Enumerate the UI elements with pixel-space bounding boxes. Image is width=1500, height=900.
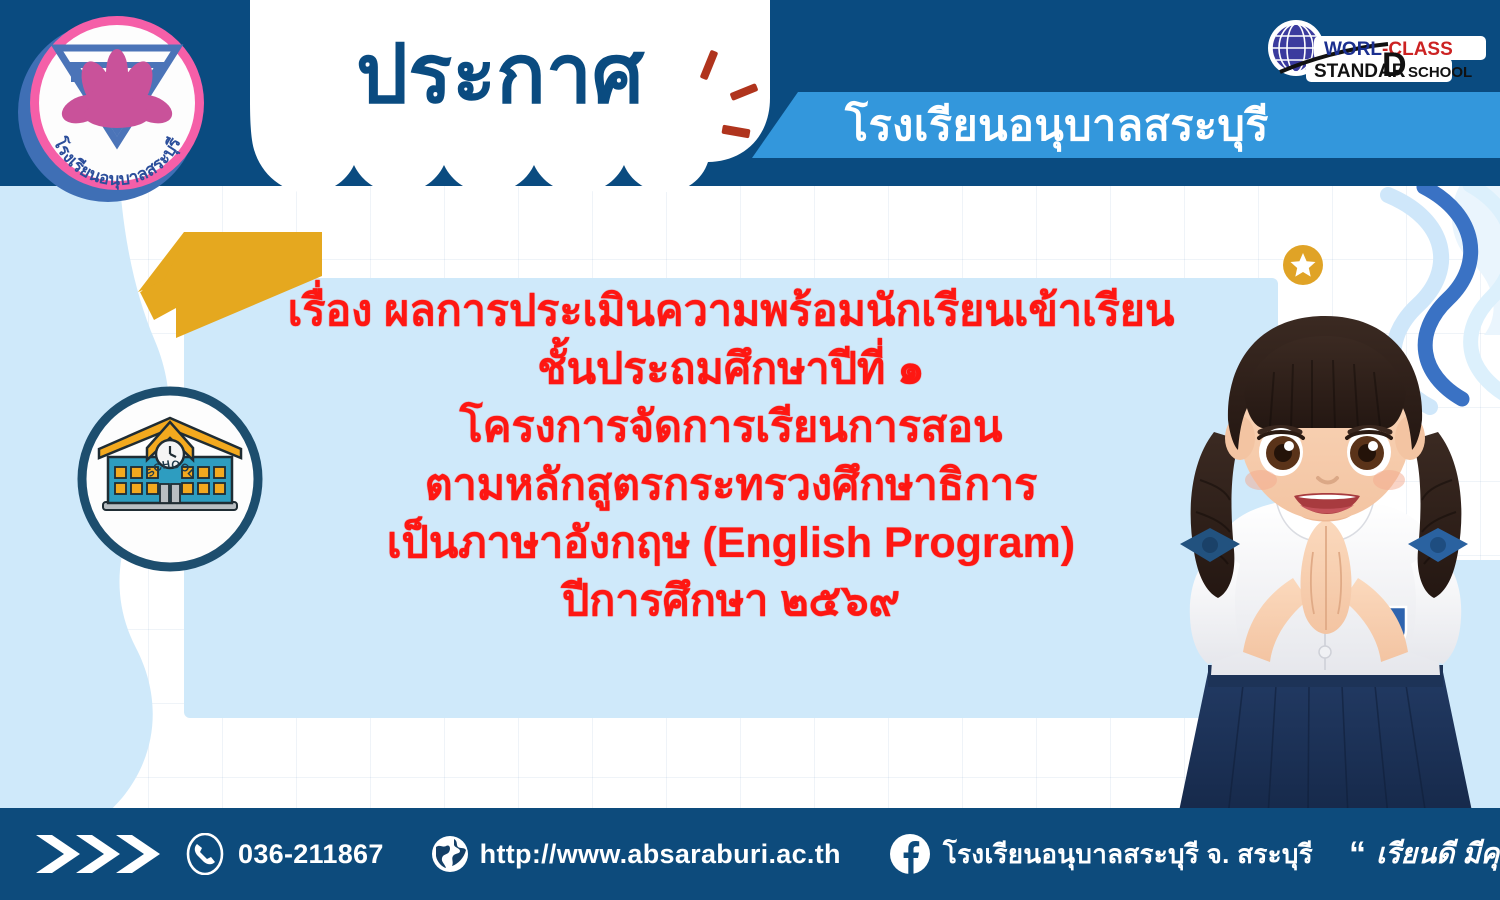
star-badge-icon [1283,245,1323,285]
body-line-5: เป็นภาษาอังกฤษ (English Program) [184,514,1278,572]
body-line-3: โครงการจัดการเรียนการสอน [184,398,1278,456]
schoolgirl-illustration [1148,300,1500,816]
body-line-4: ตามหลักสูตรกระทรวงศึกษาธิการ [184,456,1278,514]
phone-icon [184,833,226,875]
svg-text:D: D [1382,46,1407,84]
footer-website[interactable]: http://www.absaraburi.ac.th [430,834,841,874]
school-logo: โรงเรียนอนุบาลสระบุรี [27,13,207,193]
footer-content: 036-211867 http://www.absaraburi.ac.th โ… [0,808,1500,900]
motto-text: เรียนดี มีคุณธรรม [1376,832,1500,876]
globe-icon [430,834,470,874]
svg-text:SCHOOL: SCHOOL [1408,64,1472,81]
body-line-1: เรื่อง ผลการประเมินความพร้อมนักเรียนเข้า… [184,282,1278,340]
announcement-title: ประกาศ [310,20,690,130]
body-line-6: ปีการศึกษา ๒๕๖๙ [184,572,1278,630]
quote-open: “ [1349,835,1366,874]
facebook-page-name: โรงเรียนอนุบาลสระบุรี จ. สระบุรี [943,834,1313,875]
school-name-title: โรงเรียนอนุบาลสระบุรี [845,96,1485,156]
footer-facebook[interactable]: โรงเรียนอนุบาลสระบุรี จ. สระบุรี [889,833,1313,875]
website-url: http://www.absaraburi.ac.th [480,839,841,870]
announcement-body: เรื่อง ผลการประเมินความพร้อมนักเรียนเข้า… [184,282,1278,630]
chevron-right-icon [30,831,160,877]
poster-canvas: ประกาศ โรงเรียนอนุบาลสระบุรี โรงเรียนอนุ… [0,0,1500,900]
phone-number: 036-211867 [238,839,384,870]
school-motto: “ เรียนดี มีคุณธรรม ” [1349,832,1500,876]
footer-phone[interactable]: 036-211867 [184,833,384,875]
body-line-2: ชั้นประถมศึกษาปีที่ ๑ [184,340,1278,398]
world-class-standard-school-logo: WORL-CLASS STANDAR SCHOOL D [1258,14,1488,100]
facebook-icon [889,833,931,875]
